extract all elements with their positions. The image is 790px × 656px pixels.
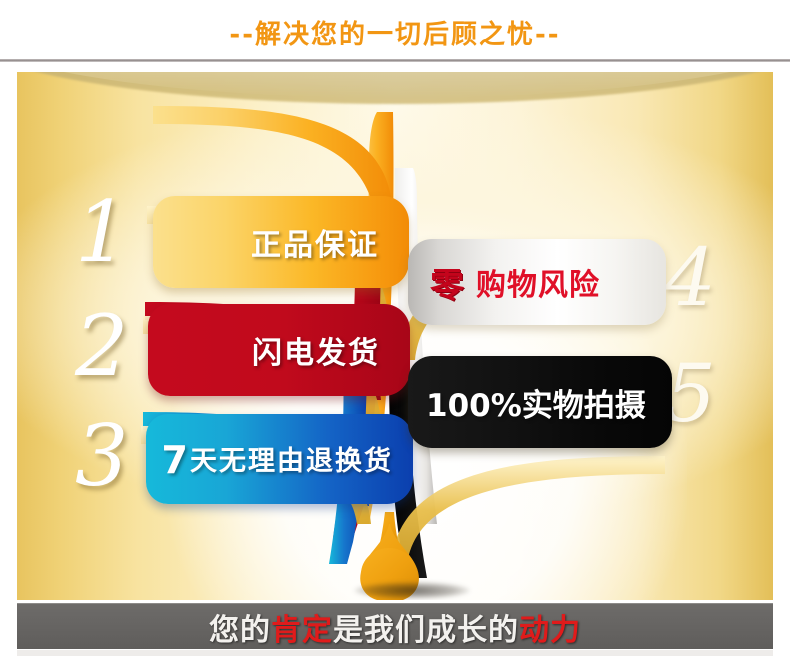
ribbon-3-text: 天无理由退换货 [190, 446, 393, 477]
numeral-1: 1 [75, 190, 128, 274]
droplet-shadow [354, 582, 470, 599]
footer-slogan: 您的肯定是我们成长的动力 [209, 605, 581, 649]
ribbon-fast-shipping: 闪电发货 [148, 304, 410, 396]
promo-panel: 1 2 3 4 5 正品保证 闪电发货 7天无理由退换货 零 购物风险 100%… [17, 72, 773, 600]
footer-highlight-1: 肯定 [271, 613, 333, 648]
footer-highlight-2: 动力 [519, 613, 581, 648]
footer-part-1: 您的 [209, 613, 271, 648]
ribbon-3-lead: 7 [162, 438, 190, 482]
footer-bar: 您的肯定是我们成长的动力 [17, 603, 773, 649]
numeral-2: 2 [75, 304, 128, 388]
ribbon-authentic-guarantee: 正品保证 [153, 196, 409, 288]
numeral-4: 4 [665, 238, 716, 318]
numeral-3: 3 [75, 414, 128, 498]
footer-part-2: 是我们成长的 [333, 613, 519, 648]
numeral-5: 5 [665, 354, 716, 434]
ribbon-5-text: 实物拍摄 [522, 388, 646, 424]
page-title: --解决您的一切后顾之忧-- [0, 14, 790, 51]
ribbon-zero-shopping-risk: 零 购物风险 [408, 239, 666, 325]
footer-bottom-strip [17, 650, 773, 656]
promo-banner-page: --解决您的一切后顾之忧-- [0, 0, 790, 656]
ribbon-4-lead: 零 [430, 258, 464, 307]
ribbon-3-label: 7天无理由退换货 [162, 439, 393, 479]
ribbon-5-lead: 100% [426, 388, 522, 424]
ribbon-1-label: 正品保证 [251, 220, 379, 264]
ribbon-5-label: 100%实物拍摄 [426, 380, 646, 425]
ribbon-2-label: 闪电发货 [252, 328, 380, 372]
ribbon-4-label: 购物风险 [476, 260, 600, 304]
ribbon-real-photos: 100%实物拍摄 [408, 356, 672, 448]
header-divider [0, 59, 790, 62]
ribbon-seven-day-return: 7天无理由退换货 [146, 414, 413, 504]
